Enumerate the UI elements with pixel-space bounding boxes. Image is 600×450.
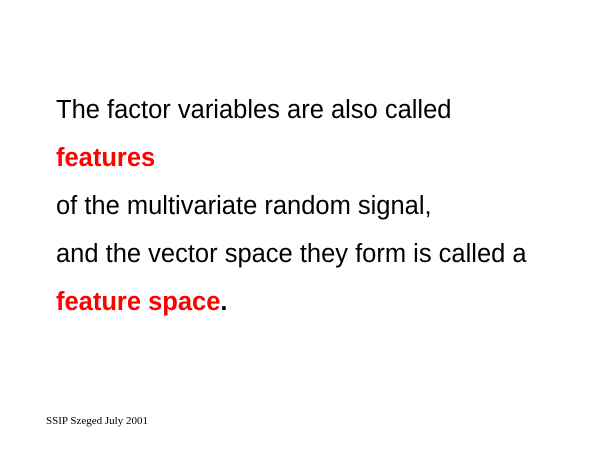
body-line-5-feature-space: feature space.	[56, 278, 566, 326]
slide-footer: SSIP Szeged July 2001	[46, 415, 148, 428]
sentence-period: .	[220, 288, 227, 316]
body-line-1: The factor variables are also called	[56, 86, 566, 134]
feature-space-term: feature space	[56, 288, 220, 316]
body-line-3: of the multivariate random signal,	[56, 182, 566, 230]
body-line-4: and the vector space they form is called…	[56, 230, 566, 278]
slide-body-text: The factor variables are also called fea…	[56, 86, 566, 326]
slide-canvas: The factor variables are also called fea…	[0, 0, 600, 450]
body-line-2-features: features	[56, 134, 566, 182]
